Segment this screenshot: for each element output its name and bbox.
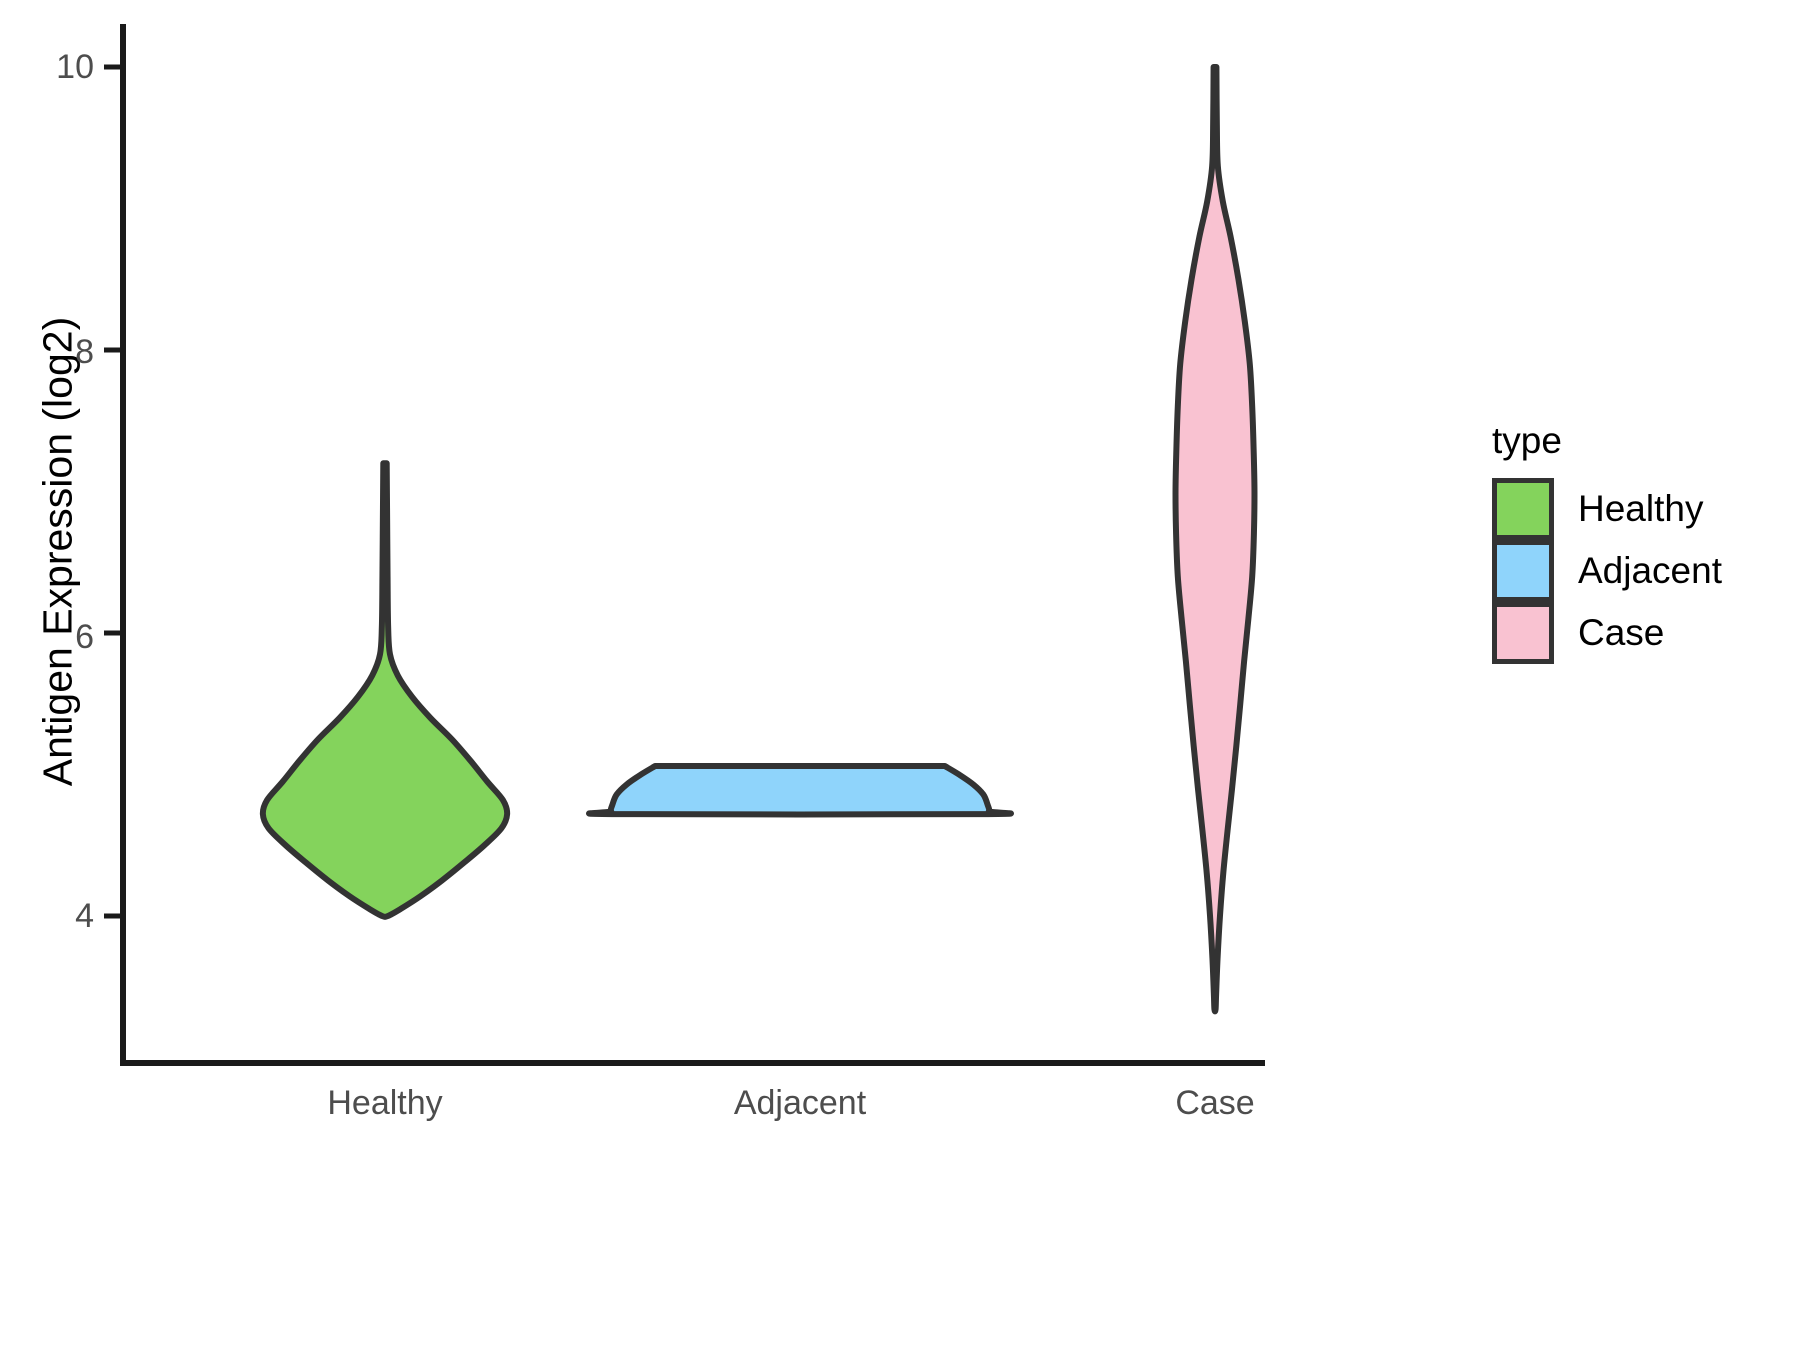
legend-title: type — [1492, 420, 1562, 462]
violin-adjacent[interactable] — [589, 766, 1011, 814]
axis-lines — [120, 24, 1265, 1063]
legend-item-case[interactable]: Case — [1492, 602, 1664, 664]
legend-swatch-healthy — [1492, 478, 1554, 540]
violin-plot-figure: Antigen Expression (log2) 10 8 6 4 Healt… — [0, 0, 1800, 1350]
legend-swatch-case — [1492, 602, 1554, 664]
legend-item-healthy[interactable]: Healthy — [1492, 478, 1703, 540]
legend-item-adjacent[interactable]: Adjacent — [1492, 540, 1722, 602]
legend-swatch-adjacent — [1492, 540, 1554, 602]
violin-healthy[interactable] — [263, 463, 507, 917]
violin-case[interactable] — [1176, 67, 1255, 1011]
legend-label-healthy: Healthy — [1578, 488, 1703, 530]
violin-bodies — [263, 67, 1255, 1011]
legend-label-case: Case — [1578, 612, 1664, 654]
plot-canvas — [0, 0, 1800, 1350]
legend-label-adjacent: Adjacent — [1578, 550, 1722, 592]
